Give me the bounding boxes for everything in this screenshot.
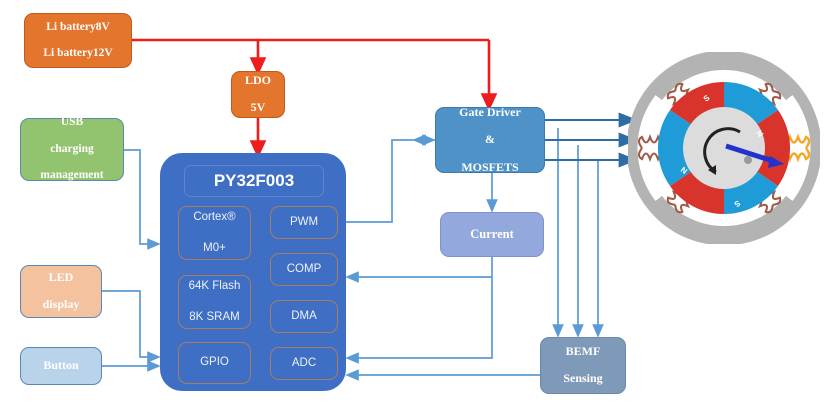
bldc-motor-illustration: S N S N: [628, 52, 820, 244]
block-diagram-canvas: Li battery8V Li battery12V LDO 5V USB ch…: [0, 0, 824, 418]
led-line1: LED: [21, 271, 101, 285]
block-led-display[interactable]: LED display: [20, 265, 102, 318]
gpio-label: GPIO: [179, 355, 250, 371]
memory-line2: 8K SRAM: [179, 310, 250, 326]
mcu-title: PY32F003: [184, 165, 324, 197]
adc-label: ADC: [271, 356, 337, 372]
ldo-line1: LDO: [232, 74, 284, 88]
gate-line1: Gate Driver: [436, 106, 544, 120]
battery-line2: Li battery12V: [25, 47, 131, 60]
mcu-block-memory[interactable]: 64K Flash 8K SRAM: [178, 275, 251, 329]
usb-line2: charging: [21, 143, 123, 156]
block-gate-driver[interactable]: Gate Driver & MOSFETS: [435, 107, 545, 173]
cortex-line1: Cortex®: [179, 210, 250, 226]
block-mcu[interactable]: PY32F003 Cortex® M0+ 64K Flash 8K SRAM G…: [160, 153, 346, 391]
usb-line3: management: [21, 169, 123, 182]
block-current-sense[interactable]: Current: [440, 212, 544, 257]
usb-line1: USB: [21, 116, 123, 129]
led-line2: display: [21, 298, 101, 312]
mcu-block-adc[interactable]: ADC: [270, 347, 338, 380]
cortex-line2: M0+: [179, 241, 250, 257]
gate-line2: &: [436, 133, 544, 147]
bemf-line1: BEMF: [541, 345, 625, 359]
button-label: Button: [21, 359, 101, 373]
block-usb-charging[interactable]: USB charging management: [20, 118, 124, 181]
block-button[interactable]: Button: [20, 347, 102, 385]
battery-line1: Li battery8V: [25, 21, 131, 34]
mcu-block-gpio[interactable]: GPIO: [178, 342, 251, 384]
mcu-block-pwm[interactable]: PWM: [270, 206, 338, 239]
mcu-block-comp[interactable]: COMP: [270, 253, 338, 286]
gate-line3: MOSFETS: [436, 161, 544, 175]
dma-label: DMA: [271, 309, 337, 325]
block-ldo[interactable]: LDO 5V: [231, 71, 285, 118]
mcu-block-dma[interactable]: DMA: [270, 300, 338, 333]
current-label: Current: [441, 227, 543, 241]
bemf-line2: Sensing: [541, 372, 625, 386]
block-battery[interactable]: Li battery8V Li battery12V: [24, 13, 132, 68]
memory-line1: 64K Flash: [179, 279, 250, 295]
block-bemf-sensing[interactable]: BEMF Sensing: [540, 337, 626, 394]
ldo-line2: 5V: [232, 101, 284, 115]
mcu-block-cortex[interactable]: Cortex® M0+: [178, 206, 251, 260]
pwm-label: PWM: [271, 215, 337, 231]
comp-label: COMP: [271, 262, 337, 278]
